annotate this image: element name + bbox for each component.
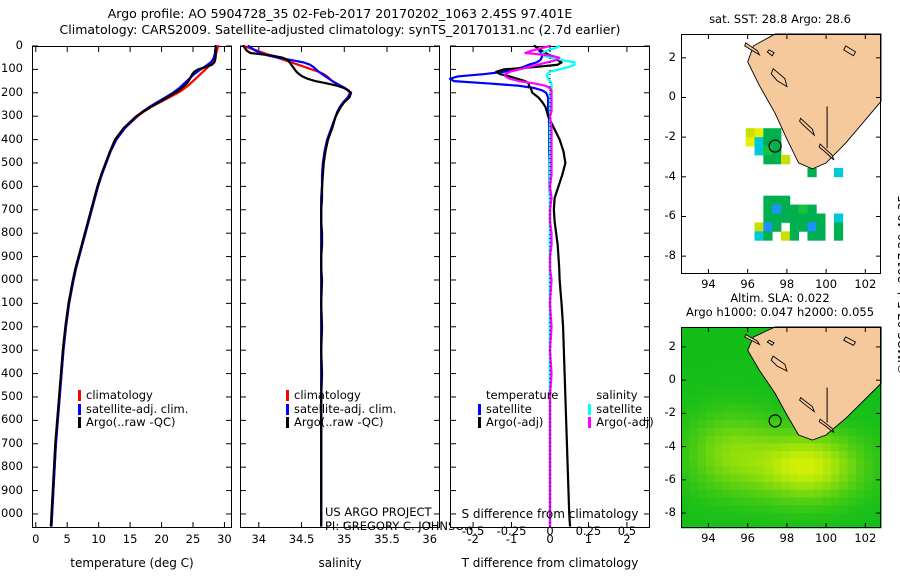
map-data-cell — [706, 358, 715, 366]
map-data-cell — [756, 481, 765, 489]
map-data-cell — [723, 412, 732, 420]
map-data-cell — [781, 497, 790, 505]
map-data-cell — [689, 350, 698, 358]
map-data-cell — [723, 389, 732, 397]
map-data-cell — [864, 458, 873, 466]
map-data-cell — [823, 458, 832, 466]
map-data-cell — [772, 196, 781, 205]
map-data-cell — [731, 396, 740, 404]
map-data-cell — [748, 512, 757, 520]
map-data-cell — [723, 512, 732, 520]
map-data-cell — [731, 435, 740, 443]
map-data-cell — [848, 466, 857, 474]
map-data-cell — [723, 350, 732, 358]
map-data-cell — [823, 466, 832, 474]
map-data-cell — [789, 512, 798, 520]
map-data-cell — [706, 497, 715, 505]
legend-item: Argo(-adj) — [588, 416, 653, 430]
map-data-cell — [706, 420, 715, 428]
map-data-cell — [772, 155, 781, 164]
map-data-cell — [714, 435, 723, 443]
tick-label: 98 — [780, 531, 795, 545]
map-data-cell — [839, 505, 848, 513]
map-data-cell — [698, 474, 707, 482]
map-data-cell — [748, 443, 757, 451]
map-data-cell — [723, 366, 732, 374]
map-data-cell — [706, 466, 715, 474]
map-data-cell — [798, 466, 807, 474]
map-data-cell — [698, 389, 707, 397]
legend-color-swatch — [478, 417, 481, 428]
legend-label: Argo(..raw -QC) — [86, 416, 176, 430]
map-data-cell — [848, 435, 857, 443]
map-data-cell — [763, 214, 772, 223]
map-data-cell — [848, 512, 857, 520]
map-data-cell — [839, 466, 848, 474]
map-data-cell — [706, 443, 715, 451]
map-data-cell — [756, 396, 765, 404]
map-data-cell — [698, 350, 707, 358]
map-data-cell — [814, 474, 823, 482]
legend-item: Argo(..raw -QC) — [78, 416, 188, 430]
map-data-cell — [681, 350, 690, 358]
map-data-cell — [806, 443, 815, 451]
temperature-panel — [32, 46, 232, 528]
map-data-cell — [706, 327, 715, 335]
map-data-cell — [739, 350, 748, 358]
tick-label: 2 — [623, 532, 630, 546]
map-data-cell — [773, 481, 782, 489]
map-data-cell — [856, 420, 865, 428]
tick-label: 1900 — [0, 483, 23, 497]
sla-map-title-line1: Altim. SLA: 0.022 — [670, 291, 890, 305]
map-data-cell — [706, 396, 715, 404]
map-data-cell — [756, 489, 765, 497]
map-data-cell — [823, 435, 832, 443]
map-data-cell — [839, 497, 848, 505]
map-data-cell — [807, 205, 816, 214]
map-data-cell — [781, 196, 790, 205]
map-data-cell — [798, 458, 807, 466]
map-data-cell — [856, 435, 865, 443]
map-data-cell — [764, 466, 773, 474]
sla-map-panel — [681, 327, 881, 528]
map-data-cell — [773, 443, 782, 451]
map-data-cell — [831, 474, 840, 482]
map-data-cell — [714, 327, 723, 335]
map-data-cell — [698, 381, 707, 389]
map-data-cell — [731, 420, 740, 428]
map-data-cell — [856, 443, 865, 451]
map-data-cell — [864, 427, 873, 435]
map-data-cell — [781, 435, 790, 443]
map-data-cell — [706, 335, 715, 343]
map-data-cell — [756, 512, 765, 520]
map-data-cell — [789, 466, 798, 474]
map-data-cell — [689, 381, 698, 389]
map-data-cell — [764, 427, 773, 435]
tick-label: 1400 — [0, 366, 23, 380]
legend-label: satellite — [486, 403, 532, 417]
map-data-cell — [823, 481, 832, 489]
tick-label: 400 — [1, 132, 23, 146]
map-data-cell — [848, 489, 857, 497]
map-data-cell — [698, 512, 707, 520]
map-data-cell — [689, 505, 698, 513]
map-data-cell — [748, 505, 757, 513]
map-data-cell — [739, 497, 748, 505]
tick-label: 600 — [1, 178, 23, 192]
tick-label: 900 — [1, 249, 23, 263]
map-data-cell — [864, 404, 873, 412]
map-data-cell — [764, 497, 773, 505]
tick-label: 500 — [1, 155, 23, 169]
legend-item: climatology — [286, 389, 396, 403]
map-data-cell — [806, 451, 815, 459]
map-data-cell — [781, 451, 790, 459]
map-data-cell — [848, 505, 857, 513]
map-data-cell — [755, 128, 764, 137]
map-data-cell — [714, 350, 723, 358]
tick-label: 2 — [669, 339, 676, 353]
map-data-cell — [816, 222, 825, 231]
map-data-cell — [856, 505, 865, 513]
map-data-cell — [723, 404, 732, 412]
map-data-cell — [698, 373, 707, 381]
map-data-cell — [814, 481, 823, 489]
map-data-cell — [814, 443, 823, 451]
map-data-cell — [681, 381, 690, 389]
tick-label: -1 — [506, 532, 517, 546]
tick-label: 36 — [422, 532, 437, 546]
map-data-cell — [723, 443, 732, 451]
map-data-cell — [739, 435, 748, 443]
map-data-cell — [789, 481, 798, 489]
map-data-cell — [781, 205, 790, 214]
map-data-cell — [814, 489, 823, 497]
map-data-cell — [706, 458, 715, 466]
map-data-cell — [706, 512, 715, 520]
map-data-cell — [748, 451, 757, 459]
map-data-cell — [689, 335, 698, 343]
map-data-cell — [790, 231, 799, 240]
map-data-cell — [698, 396, 707, 404]
map-data-cell — [814, 505, 823, 513]
legend-header: salinity — [596, 389, 653, 403]
map-data-cell — [764, 505, 773, 513]
map-data-cell — [714, 466, 723, 474]
temperature-plot — [32, 46, 232, 528]
map-data-cell — [864, 443, 873, 451]
map-data-cell — [798, 474, 807, 482]
map-data-cell — [831, 481, 840, 489]
map-data-cell — [839, 435, 848, 443]
tick-label: 1700 — [0, 436, 23, 450]
map-data-cell — [756, 451, 765, 459]
map-data-cell — [864, 481, 873, 489]
map-data-cell — [731, 497, 740, 505]
map-data-cell — [748, 373, 757, 381]
map-data-cell — [689, 420, 698, 428]
sst-map-plot — [681, 34, 881, 274]
map-data-cell — [731, 373, 740, 381]
map-data-cell — [864, 489, 873, 497]
map-data-cell — [748, 389, 757, 397]
map-data-cell — [781, 443, 790, 451]
map-data-cell — [839, 481, 848, 489]
legend-color-swatch — [78, 417, 81, 428]
map-data-cell — [806, 512, 815, 520]
map-data-cell — [739, 373, 748, 381]
map-data-cell — [706, 381, 715, 389]
legend-header: temperature — [486, 389, 558, 403]
legend-color-swatch — [478, 404, 481, 415]
map-data-cell — [806, 458, 815, 466]
tick-label: 100 — [1, 61, 23, 75]
map-data-cell — [848, 443, 857, 451]
map-data-cell — [856, 512, 865, 520]
map-data-cell — [681, 435, 690, 443]
tick-label: 10 — [91, 532, 106, 546]
map-data-cell — [731, 443, 740, 451]
map-data-cell — [781, 489, 790, 497]
legend-color-swatch — [588, 404, 591, 415]
map-data-cell — [731, 404, 740, 412]
map-data-cell — [807, 214, 816, 223]
map-data-cell — [856, 451, 865, 459]
map-data-cell — [748, 489, 757, 497]
map-data-cell — [698, 489, 707, 497]
map-data-cell — [781, 505, 790, 513]
map-data-cell — [723, 358, 732, 366]
map-data-cell — [698, 404, 707, 412]
map-data-cell — [823, 474, 832, 482]
map-data-cell — [714, 335, 723, 343]
map-data-cell — [831, 512, 840, 520]
map-data-cell — [781, 155, 790, 164]
map-data-cell — [681, 497, 690, 505]
tick-label: 0 — [669, 89, 676, 103]
map-data-cell — [714, 427, 723, 435]
map-data-cell — [723, 373, 732, 381]
figure-title-line1: Argo profile: AO 5904728_35 02-Feb-2017 … — [0, 6, 680, 22]
map-data-cell — [831, 451, 840, 459]
map-data-cell — [772, 214, 781, 223]
map-data-cell — [756, 458, 765, 466]
map-data-cell — [756, 435, 765, 443]
map-data-cell — [748, 381, 757, 389]
legend-label: satellite — [596, 403, 642, 417]
map-data-cell — [764, 389, 773, 397]
map-data-cell — [706, 350, 715, 358]
map-data-cell — [698, 458, 707, 466]
map-data-cell — [731, 350, 740, 358]
difference-panel — [450, 46, 650, 528]
map-data-cell — [789, 505, 798, 513]
map-data-cell — [698, 358, 707, 366]
tick-label: 1100 — [0, 295, 23, 309]
tick-label: 0 — [546, 532, 553, 546]
map-data-cell — [706, 404, 715, 412]
legend-label: satellite-adj. clim. — [86, 403, 188, 417]
tick-label: -6 — [665, 472, 676, 486]
map-data-cell — [739, 327, 748, 335]
map-data-cell — [764, 512, 773, 520]
tick-label: 102 — [854, 531, 876, 545]
map-data-cell — [698, 327, 707, 335]
map-data-cell — [714, 396, 723, 404]
map-data-cell — [714, 451, 723, 459]
map-data-cell — [834, 214, 843, 223]
tick-label: 800 — [1, 225, 23, 239]
map-data-cell — [756, 474, 765, 482]
tick-label: -8 — [665, 248, 676, 262]
map-data-cell — [773, 466, 782, 474]
map-data-cell — [689, 435, 698, 443]
map-data-cell — [816, 214, 825, 223]
map-data-cell — [856, 466, 865, 474]
map-data-cell — [689, 412, 698, 420]
map-data-cell — [714, 381, 723, 389]
tick-label: 1800 — [0, 459, 23, 473]
map-data-cell — [689, 404, 698, 412]
map-data-cell — [723, 458, 732, 466]
tick-label: 34 — [251, 532, 266, 546]
map-data-cell — [681, 427, 690, 435]
map-data-cell — [790, 222, 799, 231]
map-data-cell — [681, 366, 690, 374]
map-data-cell — [689, 427, 698, 435]
tick-label: 15 — [123, 532, 138, 546]
legend-item: satellite — [478, 403, 558, 417]
difference-legend: temperaturesatelliteArgo(-adj)salinitysa… — [478, 389, 654, 430]
map-data-cell — [806, 481, 815, 489]
map-data-cell — [723, 474, 732, 482]
map-data-cell — [773, 427, 782, 435]
tick-label: 0 — [669, 372, 676, 386]
map-data-cell — [823, 451, 832, 459]
legend-color-swatch — [588, 417, 591, 428]
map-data-cell — [748, 458, 757, 466]
map-data-cell — [755, 222, 764, 231]
map-data-cell — [848, 497, 857, 505]
map-data-cell — [864, 474, 873, 482]
map-data-cell — [748, 497, 757, 505]
map-data-cell — [723, 435, 732, 443]
map-data-cell — [839, 489, 848, 497]
legend-column: salinitysatelliteArgo(-adj) — [588, 389, 653, 430]
map-data-cell — [731, 366, 740, 374]
map-data-cell — [731, 342, 740, 350]
map-data-cell — [739, 489, 748, 497]
map-data-cell — [723, 497, 732, 505]
map-data-cell — [739, 451, 748, 459]
map-data-cell — [723, 466, 732, 474]
map-data-cell — [698, 435, 707, 443]
map-data-cell — [798, 512, 807, 520]
map-data-cell — [763, 128, 772, 137]
map-data-cell — [773, 458, 782, 466]
map-data-cell — [807, 168, 816, 177]
tick-label: -2 — [665, 129, 676, 143]
map-data-cell — [781, 427, 790, 435]
map-data-cell — [714, 443, 723, 451]
map-data-cell — [723, 420, 732, 428]
map-data-cell — [731, 327, 740, 335]
map-data-cell — [798, 481, 807, 489]
map-data-cell — [731, 335, 740, 343]
map-data-cell — [814, 497, 823, 505]
map-data-cell — [755, 231, 764, 240]
sla-map-title: Altim. SLA: 0.022 Argo h1000: 0.047 h200… — [670, 291, 890, 319]
map-data-cell — [823, 489, 832, 497]
map-data-cell — [789, 435, 798, 443]
map-data-cell — [781, 214, 790, 223]
map-data-cell — [764, 443, 773, 451]
map-data-cell — [764, 489, 773, 497]
map-data-cell — [731, 412, 740, 420]
tick-label: 1600 — [0, 412, 23, 426]
tick-label: 700 — [1, 202, 23, 216]
tick-label: -2 — [665, 405, 676, 419]
map-data-cell — [731, 481, 740, 489]
map-data-cell — [748, 466, 757, 474]
legend-item: satellite-adj. clim. — [78, 403, 188, 417]
map-data-cell — [831, 443, 840, 451]
map-data-cell — [739, 342, 748, 350]
map-data-cell — [681, 451, 690, 459]
map-data-cell — [731, 474, 740, 482]
legend-label: Argo(..raw -QC) — [294, 416, 384, 430]
map-data-cell — [799, 205, 808, 214]
map-data-cell — [681, 389, 690, 397]
map-data-cell — [756, 505, 765, 513]
map-data-cell — [681, 481, 690, 489]
map-data-cell — [731, 458, 740, 466]
map-data-cell — [748, 327, 757, 335]
tick-label: -2 — [467, 532, 478, 546]
map-data-cell — [706, 373, 715, 381]
map-data-cell — [864, 505, 873, 513]
map-data-cell — [723, 327, 732, 335]
map-data-cell — [689, 396, 698, 404]
map-data-cell — [689, 489, 698, 497]
tick-label: 35 — [337, 532, 352, 546]
map-data-cell — [755, 146, 764, 155]
map-data-cell — [773, 505, 782, 513]
map-data-cell — [839, 474, 848, 482]
map-data-cell — [739, 412, 748, 420]
map-data-cell — [706, 366, 715, 374]
map-data-cell — [723, 505, 732, 513]
map-data-cell — [739, 427, 748, 435]
map-data-cell — [756, 466, 765, 474]
map-data-cell — [689, 481, 698, 489]
map-data-cell — [689, 366, 698, 374]
map-data-cell — [773, 497, 782, 505]
map-data-cell — [756, 420, 765, 428]
map-data-cell — [748, 427, 757, 435]
tick-label: 94 — [701, 531, 716, 545]
figure-title: Argo profile: AO 5904728_35 02-Feb-2017 … — [0, 6, 680, 38]
map-data-cell — [764, 404, 773, 412]
map-data-cell — [773, 512, 782, 520]
difference-t-axis-label: T difference from climatology — [450, 556, 650, 570]
map-data-cell — [681, 396, 690, 404]
map-data-cell — [781, 512, 790, 520]
map-data-cell — [706, 435, 715, 443]
map-data-cell — [763, 196, 772, 205]
